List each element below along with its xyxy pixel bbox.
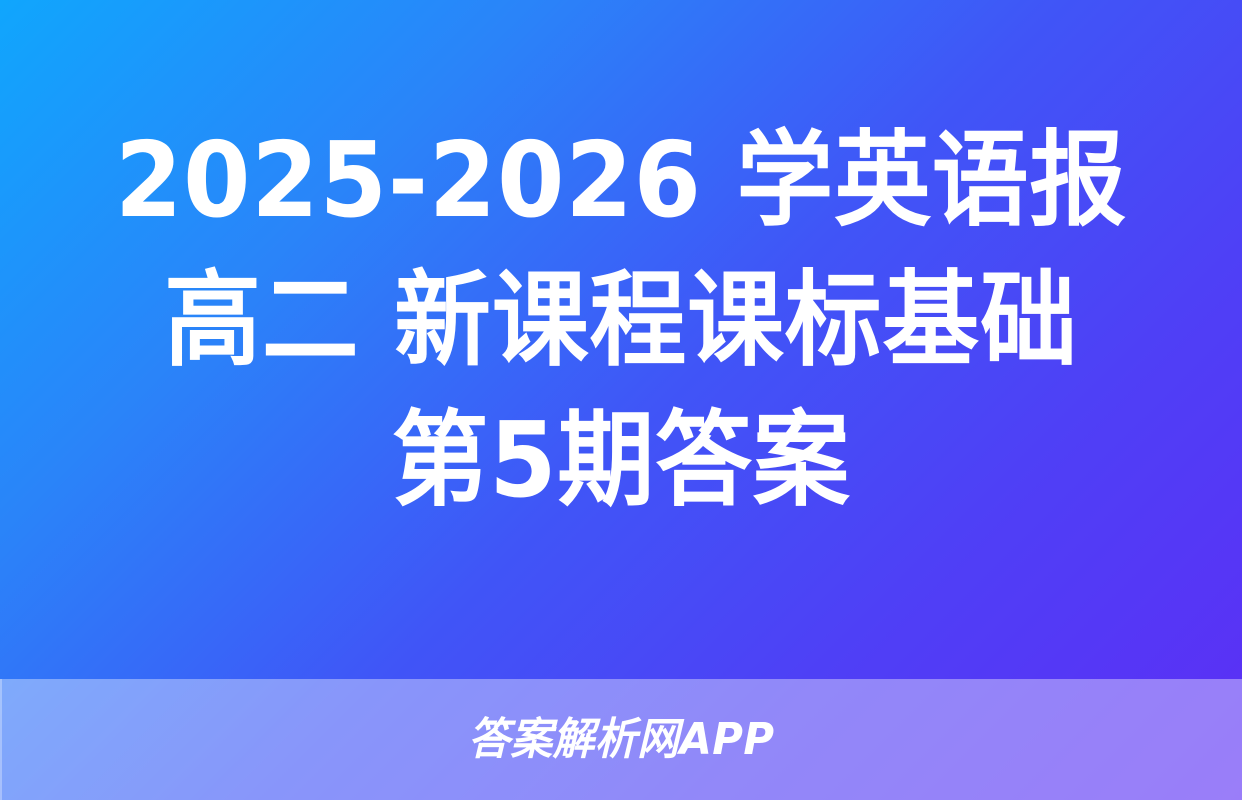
app-watermark-label: 答案解析网APP bbox=[468, 718, 774, 762]
page-title: 2025-2026 学英语报 高二 新课程课标基础 第5期答案 bbox=[101, 110, 1141, 530]
cover-card: 2025-2026 学英语报 高二 新课程课标基础 第5期答案 答案解析网APP bbox=[0, 0, 1242, 800]
headline-area: 2025-2026 学英语报 高二 新课程课标基础 第5期答案 bbox=[0, 0, 1242, 679]
footer-watermark-band: 答案解析网APP bbox=[0, 679, 1242, 800]
